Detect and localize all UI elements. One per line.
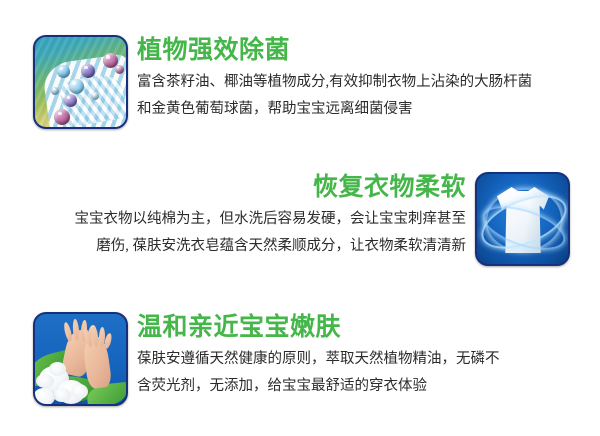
bubble-icon bbox=[91, 92, 99, 100]
finger-shape bbox=[63, 322, 74, 343]
white-tshirt-icon bbox=[475, 172, 570, 266]
bubble-icon bbox=[69, 79, 84, 94]
feature-description: 富含茶籽油、椰油等植物成分,有效抑制衣物上沾染的大肠杆菌 和金黄色葡萄球菌，帮助… bbox=[137, 69, 532, 123]
bubble-icon bbox=[54, 109, 70, 125]
feature-description: 葆肤安遵循天然健康的原则，萃取天然植物精油，无磷不 含荧光剂，无添加，给宝宝最舒… bbox=[137, 346, 500, 400]
flower-petal bbox=[53, 388, 71, 402]
feature-heading: 温和亲近宝宝嫩肤 bbox=[137, 312, 500, 342]
feature-block-gentle-on-skin: 温和亲近宝宝嫩肤 葆肤安遵循天然健康的原则，萃取天然植物精油，无磷不 含荧光剂，… bbox=[33, 312, 500, 406]
description-line: 富含茶籽油、椰油等植物成分,有效抑制衣物上沾染的大肠杆菌 bbox=[137, 69, 532, 96]
flower-petal bbox=[49, 362, 66, 376]
bubble-icon bbox=[64, 94, 77, 107]
description-line: 葆肤安遵循天然健康的原则，萃取天然植物精油，无磷不 bbox=[137, 346, 500, 373]
flower-icon bbox=[33, 388, 55, 406]
feature-text-column: 植物强效除菌 富含茶籽油、椰油等植物成分,有效抑制衣物上沾染的大肠杆菌 和金黄色… bbox=[137, 35, 532, 123]
feature-heading: 植物强效除菌 bbox=[137, 35, 532, 65]
description-line: 宝宝衣物以纯棉为主，但水洗后容易发硬，会让宝宝刺痒甚至 bbox=[75, 206, 467, 233]
feature-description: 宝宝衣物以纯棉为主，但水洗后容易发硬，会让宝宝刺痒甚至 磨伤, 葆肤安洗衣皂蕴含… bbox=[75, 206, 467, 260]
flower-petal bbox=[71, 384, 88, 399]
feature-text-column: 温和亲近宝宝嫩肤 葆肤安遵循天然健康的原则，萃取天然植物精油，无磷不 含荧光剂，… bbox=[137, 312, 500, 400]
bubble-icon bbox=[81, 64, 95, 78]
description-line: 磨伤, 葆肤安洗衣皂蕴含天然柔顺成分，让衣物柔软清清新 bbox=[75, 233, 467, 260]
bubble-icon bbox=[115, 65, 124, 74]
fabric-bubbles-icon bbox=[33, 35, 128, 129]
feature-text-column: 恢复衣物柔软 宝宝衣物以纯棉为主，但水洗后容易发硬，会让宝宝刺痒甚至 磨伤, 葆… bbox=[75, 172, 467, 260]
feature-block-plant-antibacterial: 植物强效除菌 富含茶籽油、椰油等植物成分,有效抑制衣物上沾染的大肠杆菌 和金黄色… bbox=[33, 35, 532, 129]
description-line: 含荧光剂，无添加，给宝宝最舒适的穿衣体验 bbox=[137, 373, 500, 400]
flower-petal bbox=[36, 374, 54, 388]
hands-flowers-icon bbox=[33, 312, 128, 406]
description-line: 和金黄色葡萄球菌，帮助宝宝远离细菌侵害 bbox=[137, 96, 532, 123]
bubble-icon bbox=[57, 65, 70, 78]
bubble-icon bbox=[51, 87, 59, 95]
product-feature-infographic: 植物强效除菌 富含茶籽油、椰油等植物成分,有效抑制衣物上沾染的大肠杆菌 和金黄色… bbox=[0, 0, 600, 436]
feature-heading: 恢复衣物柔软 bbox=[75, 172, 467, 202]
feature-block-fabric-softness: 恢复衣物柔软 宝宝衣物以纯棉为主，但水洗后容易发硬，会让宝宝刺痒甚至 磨伤, 葆… bbox=[75, 172, 571, 266]
